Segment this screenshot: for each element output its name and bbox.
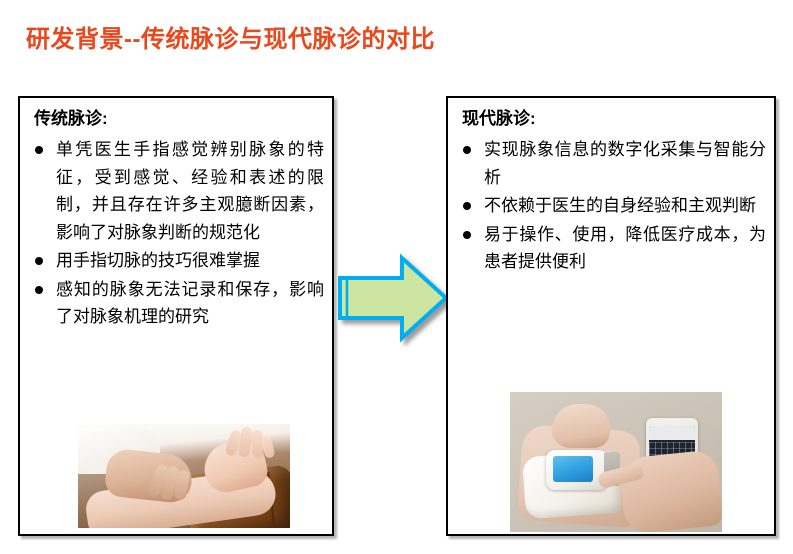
bullet-dot-icon xyxy=(463,146,471,154)
list-item-text: 不依赖于医生的自身经验和主观判断 xyxy=(484,196,756,215)
operator-hand-shape xyxy=(618,449,722,532)
page-title: 研发背景--传统脉诊与现代脉诊的对比 xyxy=(26,26,435,55)
list-item: 感知的脉象无法记录和保存，影响了对脉象机理的研究 xyxy=(34,276,324,331)
arrow-right-icon xyxy=(340,258,446,338)
traditional-bullet-list: 单凭医生手指感觉辨别脉象的特征，受到感觉、经验和表述的限制，并且存在许多主观臆断… xyxy=(34,136,324,331)
slide-canvas: 研发背景--传统脉诊与现代脉诊的对比 传统脉诊: 单凭医生手指感觉辨别脉象的特征… xyxy=(0,0,793,554)
list-item: 单凭医生手指感觉辨别脉象的特征，受到感觉、经验和表述的限制，并且存在许多主观臆断… xyxy=(34,136,324,246)
list-item-text: 易于操作、使用，降低医疗成本，为患者提供便利 xyxy=(484,225,766,272)
bullet-dot-icon xyxy=(463,231,471,239)
traditional-pulse-photo xyxy=(78,424,290,528)
list-item-text: 实现脉象信息的数字化采集与智能分析 xyxy=(484,140,766,187)
list-item-text: 感知的脉象无法记录和保存，影响了对脉象机理的研究 xyxy=(56,280,324,327)
bullet-dot-icon xyxy=(35,286,43,294)
list-item: 实现脉象信息的数字化采集与智能分析 xyxy=(462,136,766,191)
smartphone-app-bar xyxy=(649,426,695,440)
modern-panel-heading: 现代脉诊: xyxy=(462,108,774,130)
patient-fist-shape xyxy=(552,404,610,448)
bullet-dot-icon xyxy=(463,202,471,210)
modern-pulse-device-photo xyxy=(510,392,722,532)
list-item: 不依赖于医生的自身经验和主观判断 xyxy=(462,192,766,220)
transition-arrow xyxy=(338,252,450,344)
list-item-text: 单凭医生手指感觉辨别脉象的特征，受到感觉、经验和表述的限制，并且存在许多主观臆断… xyxy=(56,140,324,242)
pulse-device-screen xyxy=(553,456,593,482)
list-item: 用手指切脉的技巧很难掌握 xyxy=(34,247,324,275)
traditional-pulse-diagnosis-panel: 传统脉诊: 单凭医生手指感觉辨别脉象的特征，受到感觉、经验和表述的限制，并且存在… xyxy=(18,96,334,536)
traditional-panel-heading: 传统脉诊: xyxy=(34,108,332,130)
list-item-text: 用手指切脉的技巧很难掌握 xyxy=(56,251,260,270)
bullet-dot-icon xyxy=(35,257,43,265)
bullet-dot-icon xyxy=(35,146,43,154)
list-item: 易于操作、使用，降低医疗成本，为患者提供便利 xyxy=(462,221,766,276)
modern-bullet-list: 实现脉象信息的数字化采集与智能分析 不依赖于医生的自身经验和主观判断 易于操作、… xyxy=(462,136,766,276)
modern-pulse-diagnosis-panel: 现代脉诊: 实现脉象信息的数字化采集与智能分析 不依赖于医生的自身经验和主观判断… xyxy=(446,96,776,536)
